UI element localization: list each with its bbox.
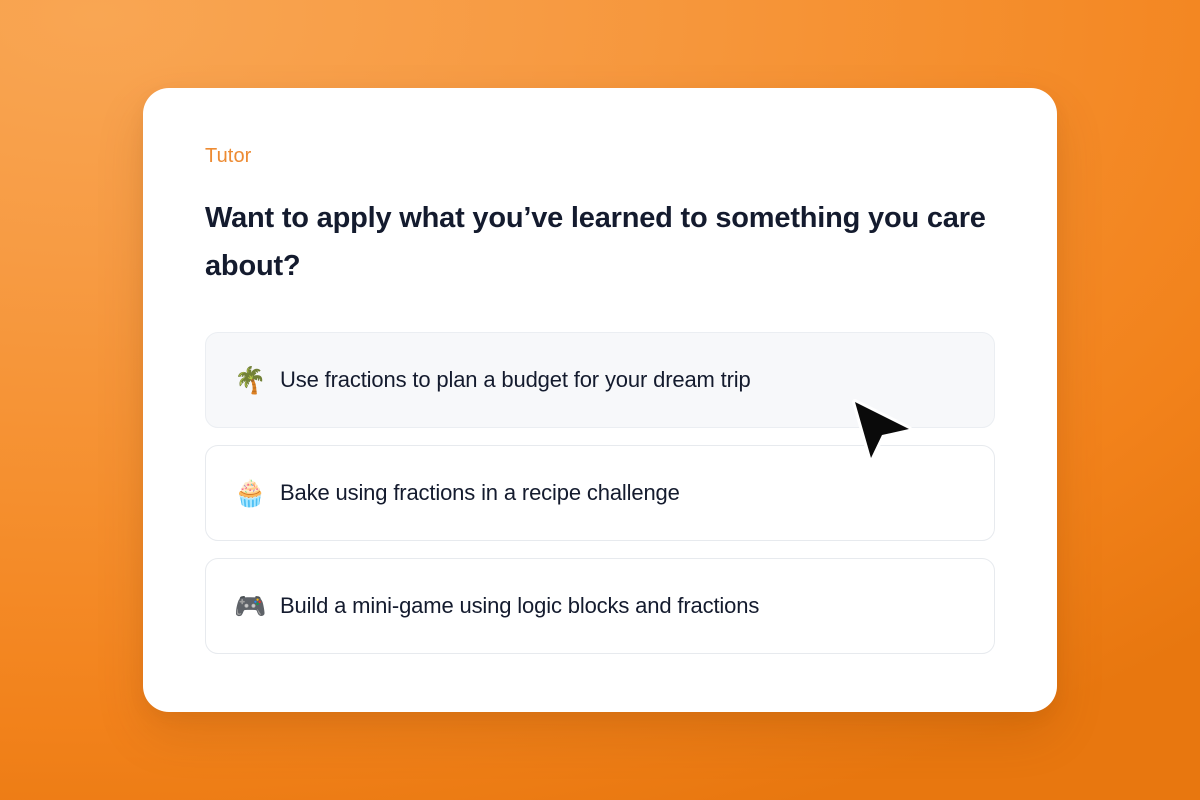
option-label: Bake using fractions in a recipe challen… (280, 479, 680, 507)
video-game-controller-emoji: 🎮 (234, 593, 264, 619)
tutor-message-card: Tutor Want to apply what you’ve learned … (143, 88, 1057, 712)
option-row-dream-trip[interactable]: 🌴 Use fractions to plan a budget for you… (205, 332, 995, 428)
card-content: Tutor Want to apply what you’ve learned … (205, 144, 995, 654)
option-label: Use fractions to plan a budget for your … (280, 366, 751, 394)
message-heading: Want to apply what you’ve learned to som… (205, 194, 995, 290)
option-row-mini-game[interactable]: 🎮 Build a mini-game using logic blocks a… (205, 558, 995, 654)
palm-tree-emoji: 🌴 (234, 367, 264, 393)
cupcake-emoji: 🧁 (234, 480, 264, 506)
suggestion-options-list: 🌴 Use fractions to plan a budget for you… (205, 332, 995, 654)
option-row-recipe-challenge[interactable]: 🧁 Bake using fractions in a recipe chall… (205, 445, 995, 541)
option-label: Build a mini-game using logic blocks and… (280, 592, 759, 620)
message-sender-label: Tutor (205, 144, 995, 168)
